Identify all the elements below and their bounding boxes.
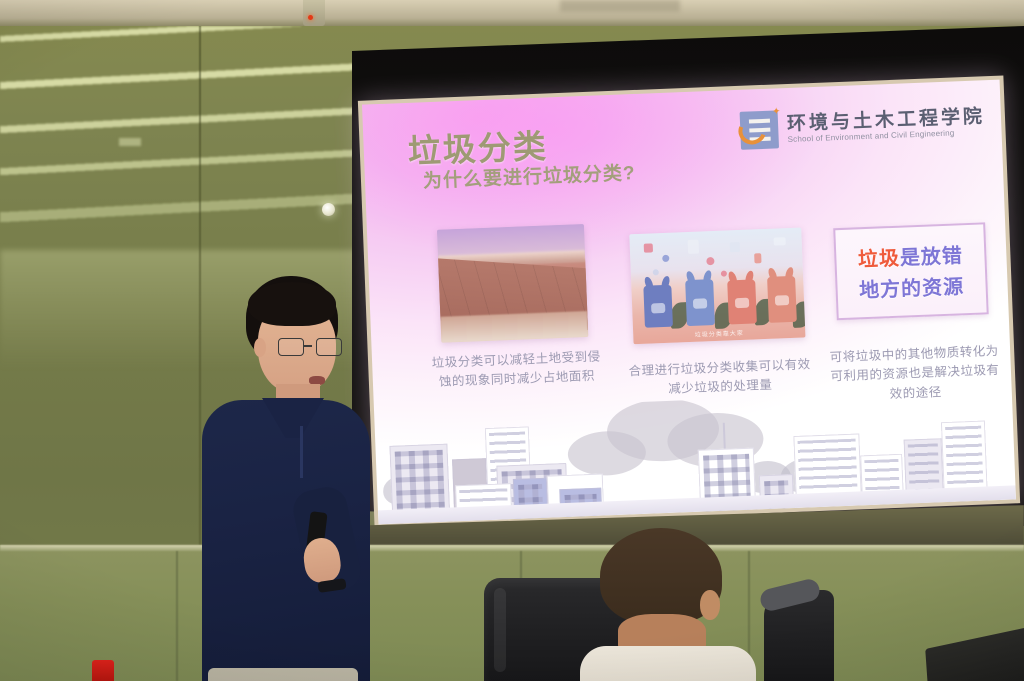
caption-bins: 合理进行垃圾分类收集可以有效减少垃圾的处理量 (624, 355, 815, 401)
lecture-room-scene: 垃圾分类 为什么要进行垃圾分类? ✦ 环境与土木工程学院 School of E… (0, 0, 1024, 681)
seated-attendee (588, 528, 738, 681)
bins-photo-caption: 垃圾分类靠大家 (633, 325, 805, 341)
projection-screen[interactable]: 垃圾分类 为什么要进行垃圾分类? ✦ 环境与土木工程学院 School of E… (358, 75, 1020, 528)
slide-canvas: 垃圾分类 为什么要进行垃圾分类? ✦ 环境与土木工程学院 School of E… (362, 80, 1016, 525)
wall-device[interactable] (303, 0, 325, 26)
ceiling-vent-icon (560, 0, 680, 12)
bottle-cap (92, 660, 114, 681)
landfill-photo (437, 224, 588, 343)
wall-panel-seam (176, 551, 178, 681)
slogan-rest: 是放错 (900, 245, 964, 269)
slogan-line-1: 垃圾是放错 (857, 239, 963, 272)
status-led-icon (308, 15, 313, 20)
slogan-line-2: 地方的资源 (859, 270, 965, 303)
wall-light-mark (119, 138, 141, 146)
institution-logo: ✦ 环境与土木工程学院 School of Environment and Ci… (740, 102, 986, 150)
bin-blue-2 (685, 279, 715, 326)
window-blinds-light-icon (0, 26, 372, 276)
bin-red-1 (727, 279, 757, 324)
ceiling-light-dot-icon (322, 203, 335, 216)
slogan-card: 垃圾是放错 地方的资源 (833, 222, 988, 320)
presenter (196, 276, 376, 681)
institution-logo-icon: ✦ (740, 110, 779, 149)
wall-trim (0, 545, 1024, 551)
cartoon-bins-photo: 垃圾分类靠大家 (629, 228, 805, 345)
ceiling (0, 0, 1024, 26)
chair-right (764, 590, 834, 681)
bin-red-2 (767, 276, 797, 323)
bin-blue-1 (643, 285, 673, 328)
caption-landfill: 垃圾分类可以减轻土地受到侵蚀的现象同时减少占地面积 (428, 347, 605, 393)
city-decoration (374, 387, 1016, 524)
glasses-icon (278, 338, 340, 357)
slogan-highlight: 垃圾 (858, 248, 901, 272)
